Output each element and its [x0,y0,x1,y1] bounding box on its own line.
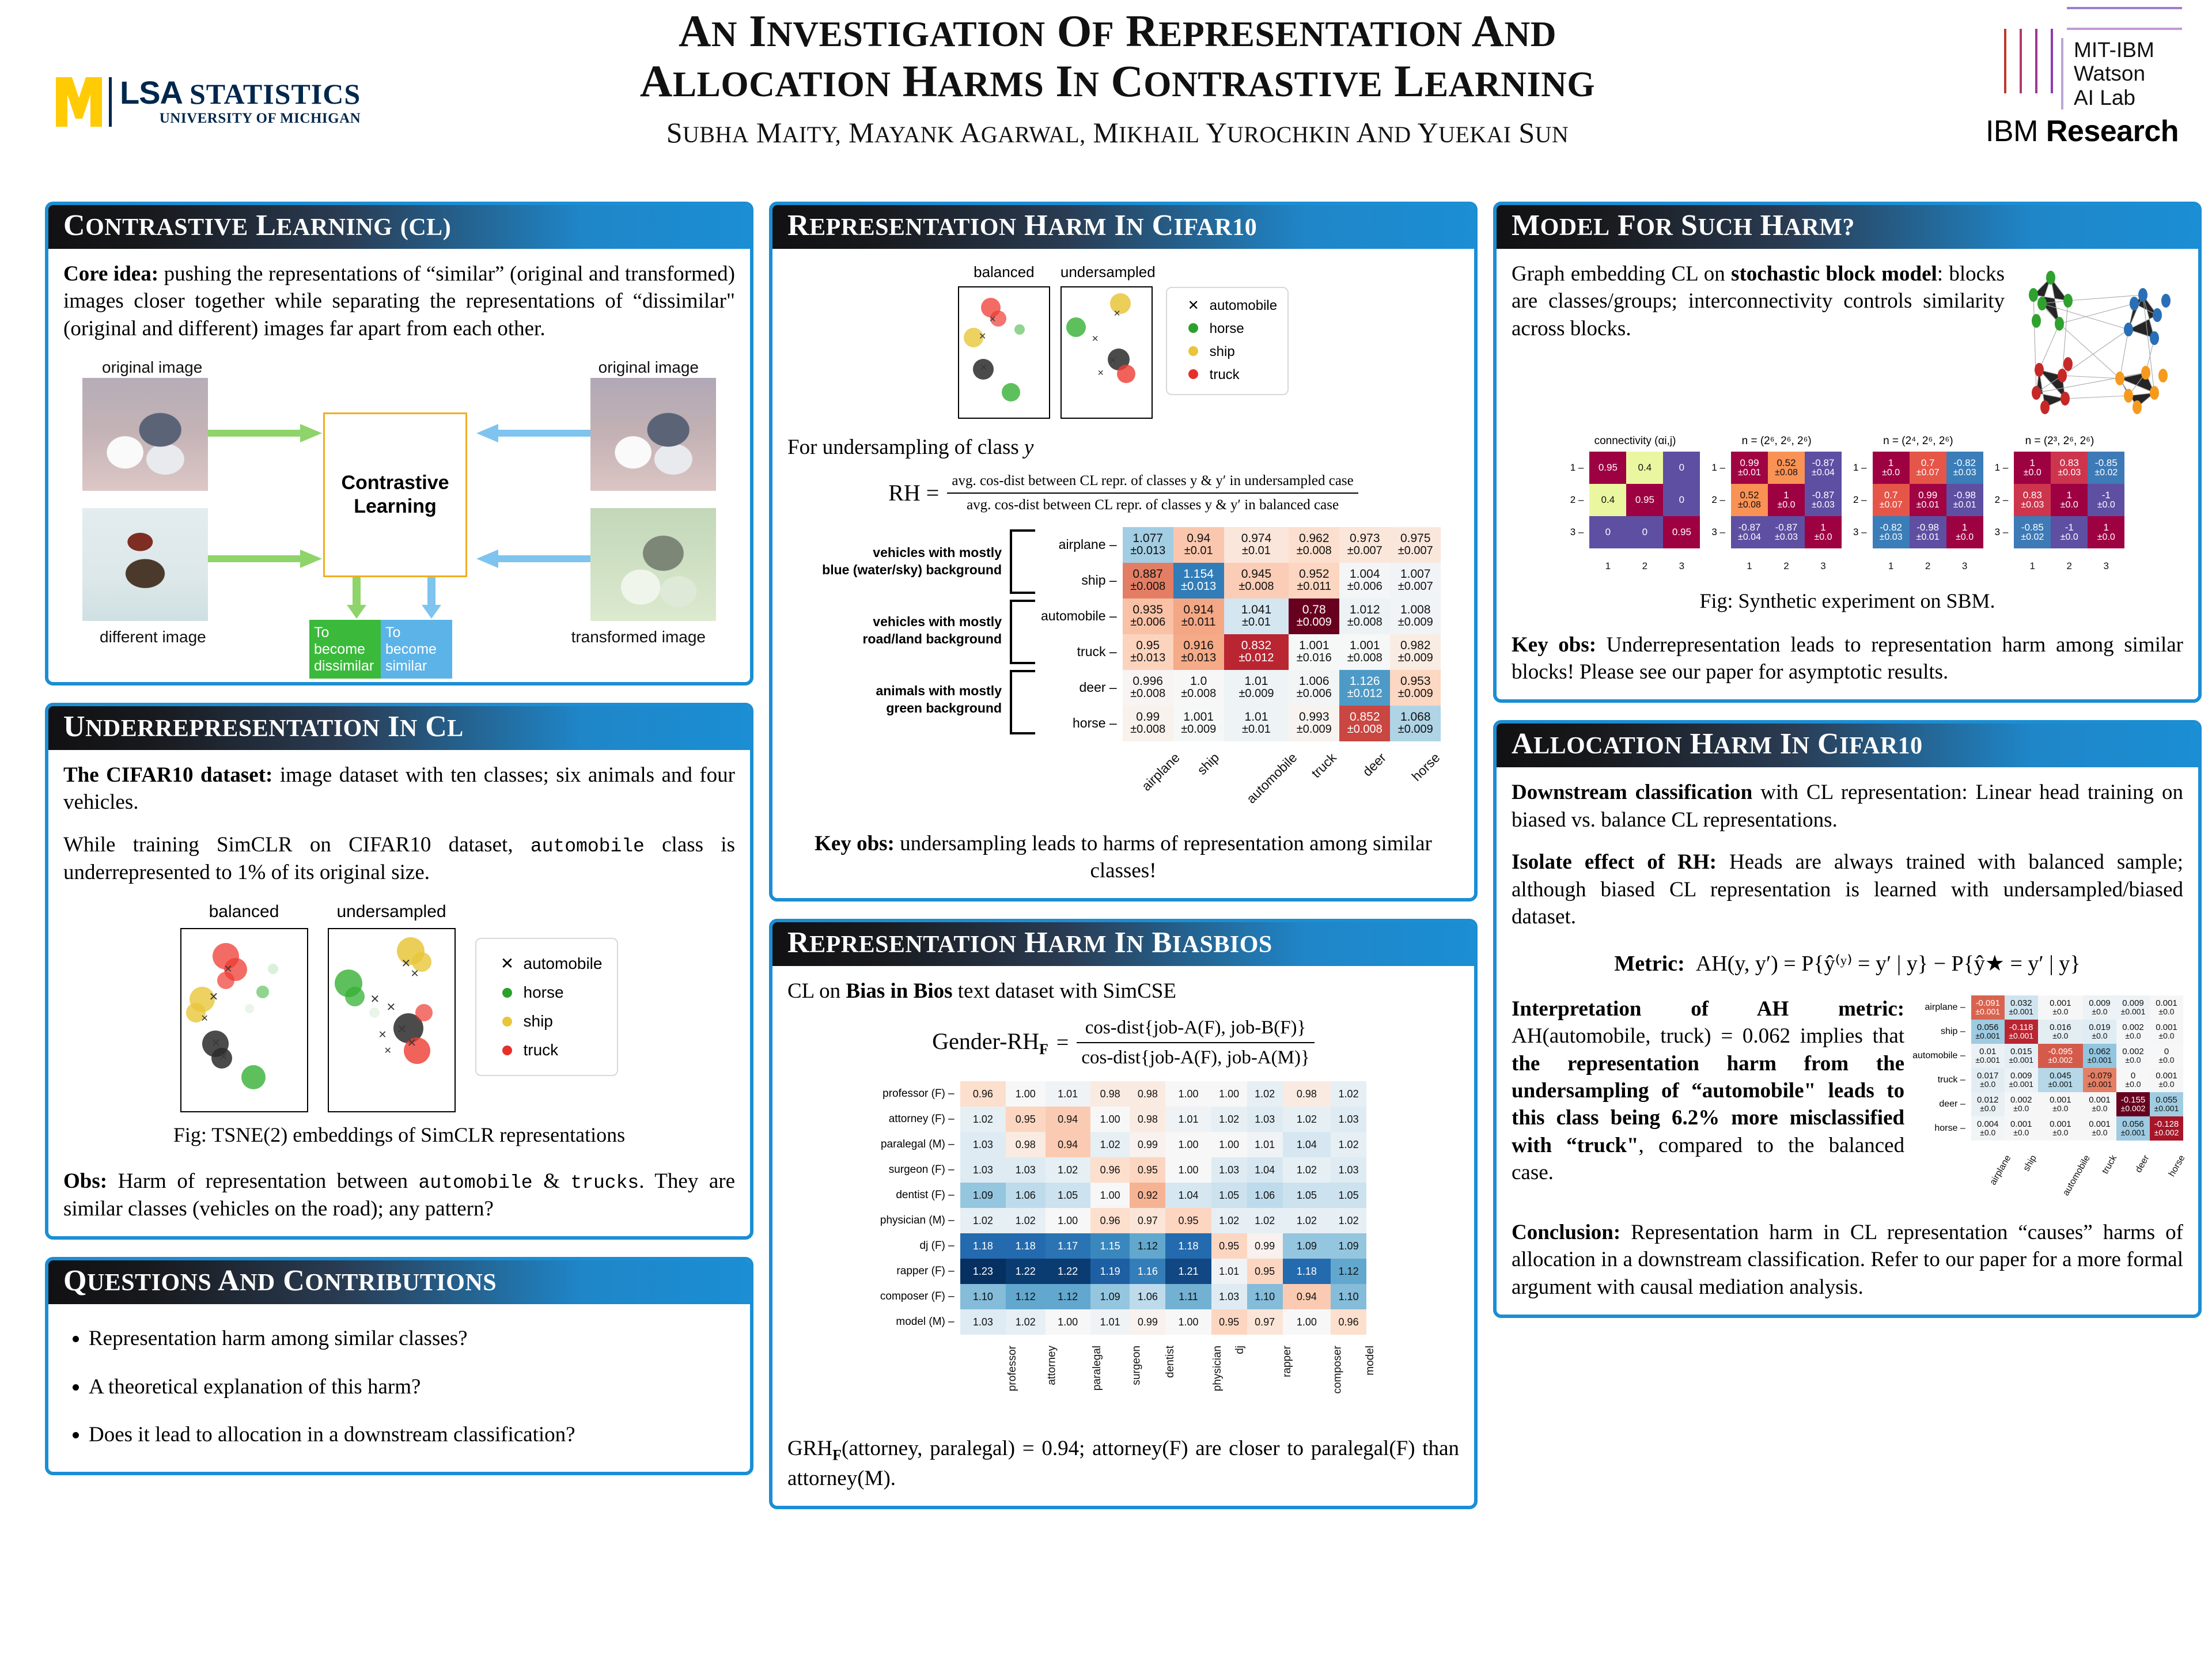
heatmap-cell: 1.19 [1090,1259,1130,1284]
heatmap-cell: 1.01 [1247,1132,1283,1157]
tag-to-become-similar: To become similar [381,620,452,679]
alloc-metric-paragraph: Metric: AH(y, y′) = P{ŷ⁽ʸ⁾ = y′ | y} − P… [1512,950,2183,978]
column-left: CONTRASTIVE LEARNING (CL) Core idea: pus… [45,202,753,1493]
heatmap-xtick: 2 [1768,548,1805,575]
heatmap-cell: 1.09 [1090,1284,1130,1309]
gender-rh-equals: = [1056,1029,1069,1057]
heatmap-cell: 1.02 [1090,1132,1130,1157]
heatmap-cell: 0.062±0.001 [2083,1044,2116,1068]
heatmap-cell: 0.96 [1331,1309,1366,1335]
heatmap-cell: 1.02 [1283,1157,1331,1183]
sbm-n-2e4: 1 –1±0.00.7±0.07-0.82±0.032 –0.7±0.070.9… [1853,452,1983,575]
heatmap-cell: 1.00 [1046,1208,1090,1233]
heatmap-xtick: professor [960,1335,1006,1415]
label-transformed-image: transformed image [571,627,706,647]
rh-legend-label-ship: ship [1210,343,1235,361]
photo-transformed-cat [590,508,716,621]
heatmap-cell: -0.079±0.001 [2083,1068,2116,1092]
question-item-1: Representation harm among similar classe… [89,1325,735,1352]
heatmap-xtick: truck [1289,741,1339,810]
heatmap-cell: 1.01±0.01 [1224,706,1289,741]
heatmap-column-label: 2 [1642,560,1647,573]
rh-legend-label-horse: horse [1210,320,1244,338]
heatmap-cell: 1.10 [1247,1284,1283,1309]
alloc-interp-label: Interpretation of AH metric: [1512,997,1904,1021]
model-key-obs-paragraph: Key obs: Underrepresentation leads to re… [1512,631,2183,686]
alloc-conclusion-paragraph: Conclusion: Representation harm in CL re… [1512,1219,2183,1301]
tsne-figure-underrepresentation: balanced [63,901,735,1112]
heatmap-cell: 1.17 [1046,1233,1090,1259]
heatmap-cell: 0.001±0.0 [2083,1116,2116,1141]
heatmap-cell: 1.03 [1211,1284,1247,1309]
arrow-cl-to-similar [420,577,443,620]
gender-rh-formula: Gender-RHF = cos-dist{job-A(F), job-B(F)… [787,1016,1459,1070]
heatmap-cell: 0.94±0.01 [1173,527,1224,563]
university-wordmark: UNIVERSITY OF MICHIGAN [120,111,361,127]
heatmap-cell: 1.00 [1211,1132,1247,1157]
heatmap-cell: 1.04 [1165,1183,1211,1208]
heatmap-cell: 1.02 [960,1208,1006,1233]
heatmap-cell: 0.009±0.001 [2005,1068,2038,1092]
heatmap-cell: 1.21 [1165,1259,1211,1284]
heatmap-cell: 0 [1626,516,1663,548]
mit-ibm-rule-bottom [2067,28,2182,30]
heatmap-cell: 0.009±0.001 [2116,995,2150,1020]
heatmap-xtick: 1 [2014,548,2051,575]
heatmap-xtick: 1 [1873,548,1910,575]
heatmap-cell: 0±0.0 [2150,1044,2183,1068]
rh-key-obs-paragraph: Key obs: undersampling leads to harms of… [787,830,1459,885]
heatmap-cell: 1.007±0.007 [1390,563,1441,599]
heatmap-xtick: deer [2116,1141,2150,1196]
biasbios-heatmap: professor (F) –0.961.001.010.980.981.001… [787,1081,1459,1415]
heatmap-cell: 0.92 [1130,1183,1165,1208]
heatmap-cell: 1±0.0 [2014,452,2051,484]
heatmap-cell: 0.852±0.008 [1339,706,1390,741]
heatmap-cell: 0.99±0.008 [1123,706,1173,741]
heatmap-xtick: 1 [1589,548,1626,575]
contrastive-learning-diagram: original image original image different … [77,357,722,668]
heatmap-cell: 0.962±0.008 [1289,527,1339,563]
heatmap-cell: 0.99±0.01 [1731,452,1768,484]
heatmap-row-label: physician (M) – [880,1208,960,1233]
heatmap-xtick: horse [1390,741,1441,810]
table-row: paralegal (M) –1.030.980.941.020.991.001… [880,1132,1366,1157]
table-row: 1 –0.99±0.010.52±0.08-0.87±0.04 [1711,452,1842,484]
heatmap-row-label: attorney (F) – [880,1107,960,1132]
heatmap-row-label: automobile – [1912,1044,1971,1068]
sbm-heatmaps-row: connectivity (αi,j)1 –0.950.402 –0.40.95… [1512,434,2183,576]
rh-legend-marker-ship [1177,343,1210,361]
heatmap-cell: 0.78±0.009 [1289,599,1339,634]
arrow-transformed-to-cl [475,547,590,570]
heatmap-cell: 1.068±0.009 [1390,706,1441,741]
cifar10-dataset-paragraph: The CIFAR10 dataset: image dataset with … [63,762,735,816]
heatmap-cell: -0.095±0.002 [2038,1044,2083,1068]
heatmap-xtick: airplane [1971,1141,2005,1196]
heatmap-cell: 1.01 [1090,1309,1130,1335]
heatmap-cell: -0.87±0.03 [1805,484,1842,516]
sbm-matrix-sbm-n-2e3: n = (2³, 2⁶, 2⁶)1 –1±0.00.83±0.03-0.85±0… [1995,434,2125,576]
heatmap-cell: 1.09 [1283,1233,1331,1259]
heatmap-cell: 0.001±0.0 [2150,1020,2183,1044]
table-row: surgeon (F) –1.031.031.020.960.951.001.0… [880,1157,1366,1183]
heatmap-cell: -0.98±0.01 [1946,484,1983,516]
poster-header: LSA STATISTICS UNIVERSITY OF MICHIGAN AN… [0,0,2212,199]
obs-paragraph: Obs: Harm of representation between auto… [63,1168,735,1223]
heatmap-row-label: truck – [1912,1068,1971,1092]
poster-title-line-2: ALLOCATION HARMS IN CONTRASTIVE LEARNING [369,56,1866,106]
heatmap-cell: 1.23 [960,1259,1006,1284]
tag-similar-line-2: similar [385,658,427,674]
section-representation-harm-biasbios: REPRESENTATION HARM IN BIASBIOS CL on Bi… [769,919,1478,1509]
heatmap-xtick: automobile [2038,1141,2083,1196]
heatmap-cell: 1.02 [960,1107,1006,1132]
section-contrastive-learning: CONTRASTIVE LEARNING (CL) Core idea: pus… [45,202,753,685]
heatmap-cell: 1±0.0 [2088,516,2124,548]
simclr-text-a: While training SimCLR on CIFAR10 dataset… [63,833,531,857]
heatmap-cell: 0.99 [1130,1132,1165,1157]
heatmap-cell: 0.832±0.012 [1224,634,1289,670]
heatmap-cell: 1.00 [1165,1309,1211,1335]
alloc-isolate-paragraph: Isolate effect of RH: Heads are always t… [1512,849,2183,930]
heatmap-cell: -1±0.0 [2088,484,2124,516]
biasbios-matrix: professor (F) –0.961.001.010.980.981.001… [880,1081,1366,1415]
heatmap-row-label: 1 – [1570,452,1590,484]
heatmap-column-label: surgeon [1130,1346,1143,1385]
table-row: dj (F) –1.181.181.171.151.121.180.950.99… [880,1233,1366,1259]
heatmap-cell: 0.4 [1589,484,1626,516]
heatmap-xtick: deer [1339,741,1390,810]
poster-authors: SUBHA MAITY, MAYANK AGARWAL, MIKHAIL YUR… [369,116,1866,149]
table-row: horse –0.004±0.00.001±0.00.001±0.00.001±… [1912,1116,2183,1141]
sbm-figure-caption: Fig: Synthetic experiment on SBM. [1512,588,2183,614]
heatmap-column-label: ship [1194,749,1223,779]
heatmap-cell: 0.001±0.0 [2150,1068,2183,1092]
alloc-conclusion-label: Conclusion: [1512,1221,1620,1244]
alloc-isolate-label: Isolate effect of RH: [1512,850,1717,874]
questions-list: Representation harm among similar classe… [63,1325,735,1448]
heatmap-cell: 1.12 [1006,1284,1046,1309]
heatmap-cell: 0.001±0.0 [2083,1092,2116,1116]
heatmap-row-label: professor (F) – [880,1081,960,1107]
table-row: 1 –1±0.00.7±0.07-0.82±0.03 [1853,452,1983,484]
heatmap-cell: 0.017±0.0 [1971,1068,2005,1092]
heatmap-column-label: 1 [1605,560,1611,573]
tsne-legend-underrepresentation: ✕ automobile horse ship truck [475,938,619,1076]
table-row: automobile –0.935±0.0060.914±0.0111.041±… [1041,599,1441,634]
table-row: 3 –000.95 [1570,516,1700,548]
heatmap-cell: -0.82±0.03 [1946,452,1983,484]
table-row: 3 –-0.82±0.03-0.98±0.011±0.0 [1853,516,1983,548]
arrow-original-right-to-cl [475,422,590,445]
table-row: airplane –1.077±0.0130.94±0.010.974±0.01… [1041,527,1441,563]
heatmap-cell: 0.982±0.009 [1390,634,1441,670]
mit-ibm-rule-top [2067,7,2182,9]
heatmap-column-label: deer [1359,749,1390,780]
heatmap-column-label: horse [2166,1153,2188,1179]
heatmap-cell: 0.95±0.013 [1123,634,1173,670]
heatmap-row-label: composer (F) – [880,1284,960,1309]
section-heading-contrastive-learning: CONTRASTIVE LEARNING (CL) [48,205,750,249]
automobile-mono-token: automobile [531,836,645,857]
model-key-obs-text: Underrepresentation leads to representat… [1512,633,2183,684]
heatmap-cell: 1.09 [1331,1233,1366,1259]
obs-text-b: & [533,1169,571,1193]
section-underrepresentation: UNDERREPRESENTATION IN CL The CIFAR10 da… [45,703,753,1240]
mitibm-line-1: MIT-IBM [2074,38,2154,62]
heatmap-cell: 1.18 [1006,1233,1046,1259]
heatmap-cell: 1±0.0 [1768,484,1805,516]
heatmap-row-label: 3 – [1853,516,1873,548]
heatmap-row-label: 2 – [1853,484,1873,516]
heatmap-row-label: 3 – [1570,516,1590,548]
tsne-plot-undersampled: ✕ ✕ ✕ ✕ ✕ ✕ ✕ ✕ [328,928,456,1112]
heatmap-xaxis-row: airplaneshipautomobiletruckdeerhorse [1041,741,1441,810]
heatmap-cell: 1.041±0.01 [1224,599,1289,634]
model-key-obs-label: Key obs: [1512,633,1596,657]
heatmap-cell: 1.03 [960,1157,1006,1183]
grh-text: (attorney, paralegal) = 0.94; attorney(F… [787,1437,1459,1490]
section-model-for-such-harm: MODEL FOR SUCH HARM? Graph embedding CL … [1493,202,2202,703]
heatmap-cell: 1.00 [1090,1107,1130,1132]
heatmap-cell: 1.22 [1006,1259,1046,1284]
heatmap-row-label: dj (F) – [880,1233,960,1259]
heatmap-cell: 0.98 [1090,1081,1130,1107]
heatmap-cell: 1.12 [1130,1233,1165,1259]
heatmap-column-label: 3 [1962,560,1967,573]
heatmap-cell: 0.83±0.03 [2014,484,2051,516]
heatmap-cell: 1.02 [1247,1208,1283,1233]
label-original-image-left: original image [102,357,202,378]
heatmap-cell: 1.02 [1046,1157,1090,1183]
heatmap-cell: 0.95 [1663,516,1700,548]
rh-key-obs-label: Key obs: [815,832,895,855]
heatmap-row-label: model (M) – [880,1309,960,1335]
rh-tsne-plot-undersampled: ✕ ✕ ✕ ✕ [1060,286,1153,419]
heatmap-cell: 1.03 [960,1132,1006,1157]
rh-legend-label-automobile: automobile [1210,297,1277,315]
heatmap-xtick: 3 [1946,548,1983,575]
heatmap-column-label: 3 [1820,560,1825,573]
heatmap-cell: 0.056±0.001 [2116,1116,2150,1141]
photo-different-bird [82,508,208,621]
cl-core-idea-text: pushing the representations of “similar”… [63,262,735,340]
label-different-image: different image [100,627,206,647]
arrow-cl-to-dissimilar [345,577,368,620]
grh-label: GRH [787,1437,832,1460]
heatmap-column-label: 3 [2104,560,2109,573]
heatmap-row-label: ship – [1912,1020,1971,1044]
tag-dissimilar-line-2: dissimilar [314,658,374,674]
heatmap-cell: 0.4 [1626,452,1663,484]
obs-mono-trucks: trucks [570,1172,639,1194]
heatmap-column-label: dentist [1164,1346,1177,1378]
heatmap-column-label: model [1363,1346,1377,1376]
heatmap-cell: 1.00 [1165,1132,1211,1157]
rh-cifar10-heatmap: airplane –1.077±0.0130.94±0.010.974±0.01… [1041,527,1441,810]
heatmap-row-label: horse – [1041,706,1123,741]
heatmap-cell: 0.914±0.011 [1173,599,1224,634]
heatmap-cell: 0.001±0.0 [2038,1092,2083,1116]
heatmap-cell: 0.002±0.0 [2116,1020,2150,1044]
rh-tsne-title-balanced: balanced [958,263,1050,282]
arrow-original-to-cl [208,422,323,445]
heatmap-row-label: airplane – [1041,527,1123,563]
rh-legend-label-truck: truck [1210,366,1240,384]
heatmap-cell: 0.94 [1283,1284,1331,1309]
photo-original-cat-left [82,378,208,491]
heatmap-cell: 1.15 [1090,1233,1130,1259]
heatmap-cell: 1.03 [1006,1157,1046,1183]
heatmap-cell: 1.03 [1331,1107,1366,1132]
biasbios-dataset-name: Bias in Bios [846,979,952,1003]
heatmap-cell: 0.953±0.009 [1390,670,1441,706]
table-row: 1 –0.950.40 [1570,452,1700,484]
table-row: ship –0.887±0.0081.154±0.0130.945±0.0080… [1041,563,1441,599]
heatmap-cell: 0.045±0.001 [2038,1068,2083,1092]
legend-label-truck: truck [524,1040,559,1060]
heatmap-cell: 1.01 [1211,1259,1247,1284]
heatmap-cell: 0.002±0.0 [2005,1092,2038,1116]
heatmap-cell: 0.98 [1130,1081,1165,1107]
heatmap-cell: 1.02 [1283,1208,1331,1233]
heatmap-cell: 0.95 [1589,452,1626,484]
sbm-connectivity: 1 –0.950.402 –0.40.9503 –000.95123 [1570,452,1700,575]
heatmap-cell: 1±0.0 [1873,452,1910,484]
legend-marker-horse [491,982,524,1003]
heatmap-cell: 1.05 [1283,1183,1331,1208]
section-heading-allocation-harm: ALLOCATION HARM IN CIFAR10 [1497,724,2198,767]
heatmap-row-label: 2 – [1711,484,1731,516]
heatmap-cell: 0.015±0.001 [2005,1044,2038,1068]
gender-rh-numerator: cos-dist{job-A(F), job-B(F)} [1077,1016,1314,1043]
heatmap-cell: 0.974±0.01 [1224,527,1289,563]
table-row: model (M) –1.031.021.001.010.991.000.950… [880,1309,1366,1335]
heatmap-cell: 0.98 [1130,1107,1165,1132]
rh-intro-text: For undersampling of class [787,435,1024,459]
table-row: truck –0.95±0.0130.916±0.0130.832±0.0121… [1041,634,1441,670]
heatmap-column-label: 2 [2067,560,2072,573]
heatmap-cell: 0.01±0.001 [1971,1044,2005,1068]
section-allocation-harm-cifar10: ALLOCATION HARM IN CIFAR10 Downstream cl… [1493,720,2202,1318]
statistics-wordmark: STATISTICS [190,81,361,108]
heatmap-cell: 1.01±0.009 [1224,670,1289,706]
heatmap-cell: 1.00 [1165,1081,1211,1107]
column-middle: REPRESENTATION HARM IN CIFAR10 balanced … [769,202,1478,1527]
arrow-different-to-cl [208,547,323,570]
table-row: 2 –0.83±0.031±0.0-1±0.0 [1995,484,2125,516]
table-row: horse –0.99±0.0081.001±0.0091.01±0.010.9… [1041,706,1441,741]
heatmap-cell: 0.52±0.08 [1768,452,1805,484]
tsne-figure-caption: Fig: TSNE(2) embeddings of SimCLR repres… [63,1122,735,1148]
heatmap-cell: 1.11 [1165,1284,1211,1309]
label-original-image-right: original image [599,357,699,378]
table-row: ship –0.056±0.001-0.118±0.0010.016±0.00.… [1912,1020,2183,1044]
sbm-matrix-sbm-n-2e4: n = (2⁴, 2⁶, 2⁶)1 –1±0.00.7±0.07-0.82±0.… [1853,434,1983,576]
heatmap-cell: 0.019±0.0 [2083,1020,2116,1044]
table-row: truck –0.017±0.00.009±0.0010.045±0.001-0… [1912,1068,2183,1092]
heatmap-cell: 1.02 [1331,1208,1366,1233]
rh-formula-denominator: avg. cos-dist between CL repr. of classe… [947,494,1358,514]
heatmap-cell: 0.973±0.007 [1339,527,1390,563]
heatmap-xtick: ship [2005,1141,2038,1196]
heatmap-cell: 0.99 [1247,1233,1283,1259]
rh-legend-marker-truck [1177,366,1210,384]
heatmap-row-label: automobile – [1041,599,1123,634]
contrastive-learning-box: Contrastive Learning [323,412,467,577]
heatmap-cell: 0.945±0.008 [1224,563,1289,599]
sbm-n-2e3: 1 –1±0.00.83±0.03-0.85±0.022 –0.83±0.031… [1995,452,2125,575]
heatmap-cell: 0.975±0.007 [1390,527,1441,563]
question-item-2: A theoretical explanation of this harm? [89,1373,735,1400]
heatmap-column-label: 2 [1925,560,1930,573]
heatmap-cell: 0.055±0.001 [2150,1092,2183,1116]
heatmap-cell: 1.18 [1283,1259,1331,1284]
tag-dissimilar-line-1: To become [314,624,365,657]
heatmap-cell: 0.004±0.0 [1971,1116,2005,1141]
heatmap-xtick: 2 [2051,548,2088,575]
mit-ibm-watson-ai-lab-text: MIT-IBM Watson AI Lab [2061,38,2154,109]
heatmap-cell: 1.00 [1090,1183,1130,1208]
biasbios-intro-paragraph: CL on Bias in Bios text dataset with Sim… [787,978,1459,1005]
allocation-harm-heatmap: airplane –-0.091±0.0010.032±0.0010.001±0… [1912,995,2183,1196]
heatmap-cell: -0.85±0.02 [2088,452,2124,484]
heatmap-row-label: deer – [1912,1092,1971,1116]
heatmap-cell: 0.52±0.08 [1731,484,1768,516]
heatmap-cell: 0.94 [1046,1132,1090,1157]
tsne-title-balanced: balanced [180,901,308,923]
biasbios-intro-c: text dataset with SimCSE [953,979,1176,1003]
heatmap-xaxis-row: 123 [1853,548,1983,575]
cifar10-dataset-label: The CIFAR10 dataset: [63,763,272,787]
heatmap-cell: 1.00 [1046,1309,1090,1335]
rh-cifar10-matrix: airplane –1.077±0.0130.94±0.010.974±0.01… [1041,527,1441,810]
heatmap-column-label: 1 [2030,560,2035,573]
heatmap-cell: -0.82±0.03 [1873,516,1910,548]
heatmap-column-label: paralegal [1090,1346,1104,1391]
heatmap-cell: -0.85±0.02 [2014,516,2051,548]
heatmap-cell: 1±0.0 [1805,516,1842,548]
heatmap-cell: 0.95 [1247,1259,1283,1284]
table-row: 2 –0.52±0.081±0.0-0.87±0.03 [1711,484,1842,516]
heatmap-row-label: deer – [1041,670,1123,706]
heatmap-cell: 1.18 [960,1233,1006,1259]
university-of-michigan-lsa-logo: LSA STATISTICS UNIVERSITY OF MICHIGAN [55,75,361,129]
heatmap-row-label: 1 – [1711,452,1731,484]
heatmap-cell: 0.95 [1006,1107,1046,1132]
heatmap-cell: 0.99 [1130,1309,1165,1335]
sbm-matrix-title: n = (2³, 2⁶, 2⁶) [1995,434,2125,448]
title-block: AN INVESTIGATION OF REPRESENTATION AND A… [369,6,1866,149]
heatmap-cell: 0.94 [1046,1107,1090,1132]
legend-marker-ship [491,1011,524,1032]
heatmap-xaxis-row: 123 [1711,548,1842,575]
heatmap-cell: 0.001±0.0 [2005,1116,2038,1141]
heatmap-cell: -1±0.0 [2051,516,2088,548]
gender-rh-denominator: cos-dist{job-A(F), job-A(M)} [1077,1043,1314,1070]
heatmap-cell: 1.008±0.009 [1390,599,1441,634]
heatmap-cell: 1.06 [1130,1284,1165,1309]
heatmap-row-label: 2 – [1570,484,1590,516]
alloc-downstream-paragraph: Downstream classification with CL repres… [1512,779,2183,834]
rh-key-obs-text: undersampling leads to harms of represen… [895,832,1432,882]
heatmap-row-label: ship – [1041,563,1123,599]
heatmap-row-label: 1 – [1853,452,1873,484]
heatmap-xtick: horse [2150,1141,2183,1196]
column-right: MODEL FOR SUCH HARM? Graph embedding CL … [1493,202,2202,1335]
heatmap-cell: 0.887±0.008 [1123,563,1173,599]
